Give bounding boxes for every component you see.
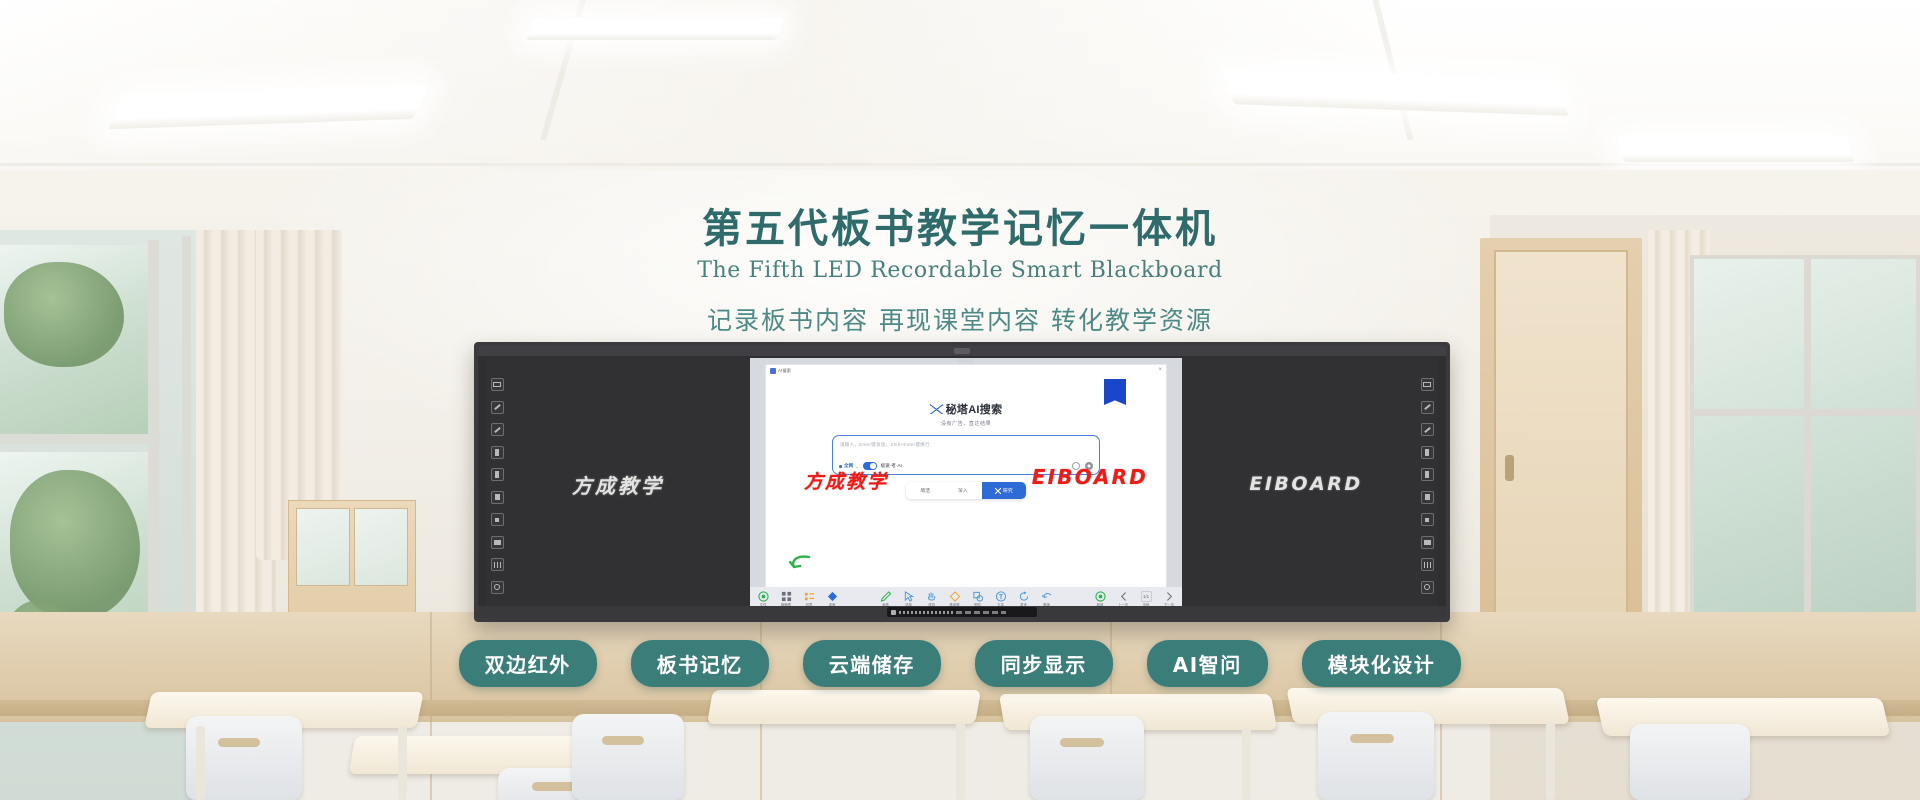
toolbar-left-group: 文件 缩略图 列表 桌面 — [755, 591, 840, 607]
toolbar-item-file[interactable]: 文件 — [755, 591, 771, 607]
left-window-mullion-h — [0, 434, 160, 444]
desktop-icon — [827, 591, 838, 602]
pen-icon[interactable] — [491, 401, 504, 414]
toolbar-item-undo[interactable]: 撤销 — [1039, 591, 1055, 607]
hand-icon — [926, 591, 937, 602]
desk-leg-2 — [398, 726, 407, 800]
smart-blackboard[interactable]: 方成教学 EIBOARD — [474, 342, 1450, 622]
toolbar-item-select[interactable]: 选择 — [901, 591, 917, 607]
prev-icon — [1118, 591, 1129, 602]
board-bottom-bezel — [478, 606, 1446, 618]
list-icon — [804, 591, 815, 602]
search-placeholder: 请输入，Enter键发送，Shift+Enter键换行 — [840, 442, 930, 448]
board-camera-icon — [954, 348, 970, 354]
board-right-chalk-text: EIBOARD — [1249, 473, 1362, 495]
ceiling-light-right-2 — [1616, 136, 1854, 162]
headline: 第五代板书教学记忆一体机 The Fifth LED Recordable Sm… — [0, 196, 1920, 337]
add-icon — [1095, 591, 1106, 602]
toolbar-center-group: 画笔 选择 漫游 橡皮擦 图形 — [878, 591, 1055, 607]
page-count-value: 1/1 — [1141, 591, 1152, 602]
page-subtitle: 记录板书内容 再现课堂内容 转化教学资源 — [0, 301, 1920, 337]
feature-badge-row: 双边红外 板书记忆 云端储存 同步显示 AI智问 模块化设计 — [0, 640, 1920, 687]
page-icon[interactable] — [491, 446, 504, 459]
desk-leg-1 — [196, 726, 205, 800]
board-panel-right[interactable]: EIBOARD — [1174, 358, 1438, 610]
pen-icon — [880, 591, 891, 602]
chair-5 — [1318, 712, 1434, 800]
brand-mark-icon — [891, 610, 896, 615]
battery-icon[interactable] — [1421, 491, 1434, 504]
left-cabinet-glass-r — [354, 508, 408, 586]
usb-icon[interactable] — [491, 468, 504, 481]
display-icon[interactable] — [491, 378, 504, 391]
window-title: AI搜索 — [770, 368, 791, 374]
pen-alt-icon[interactable] — [1421, 423, 1434, 436]
chair-1-handle — [218, 738, 260, 747]
chair-3 — [572, 714, 684, 800]
board-panel-left[interactable]: 方成教学 — [486, 358, 750, 610]
toolbar-item-thumbnail[interactable]: 缩略图 — [778, 591, 794, 607]
mode-research-label: 研究 — [1003, 487, 1013, 494]
file-icon — [758, 591, 769, 602]
handwriting-annotation-en: EIBOARD — [1032, 465, 1148, 489]
app-brand: 秘塔AI搜索 — [930, 401, 1003, 417]
mode-deep-button[interactable]: 深入 — [944, 482, 982, 499]
handwriting-annotation-cn: 方成教学 — [804, 467, 888, 494]
door-handle — [1505, 455, 1514, 481]
toolbar-item-prev-page[interactable]: 上一页 — [1115, 591, 1131, 607]
sparkle-icon — [995, 488, 1001, 494]
desk-leg-3 — [956, 722, 965, 800]
brand-model-placeholder — [956, 611, 1006, 614]
chair-4 — [1030, 716, 1144, 800]
window-title-text: AI搜索 — [778, 368, 791, 374]
feature-badge[interactable]: 云端储存 — [803, 640, 941, 687]
toolbar-item-text[interactable]: 文本 — [993, 591, 1009, 607]
cursor-icon — [903, 591, 914, 602]
pen-alt-icon[interactable] — [491, 423, 504, 436]
pen-icon[interactable] — [1421, 401, 1434, 414]
feature-badge[interactable]: AI智问 — [1147, 640, 1268, 687]
undo-arrow-icon — [788, 553, 814, 575]
shape-icon — [972, 591, 983, 602]
toolbar-item-add-page[interactable]: 新增 — [1092, 591, 1108, 607]
redo-icon — [1018, 591, 1029, 602]
screen-notch — [957, 358, 975, 365]
toolbar-item-shape[interactable]: 图形 — [970, 591, 986, 607]
close-icon[interactable]: × — [1158, 367, 1162, 373]
toolbar-item-list[interactable]: 列表 — [801, 591, 817, 607]
hdmi-icon[interactable] — [1421, 536, 1434, 549]
ceiling-seam — [0, 163, 1920, 166]
feature-badge[interactable]: 双边红外 — [459, 640, 597, 687]
toolbar-item-redo[interactable]: 重来 — [1016, 591, 1032, 607]
feature-badge[interactable]: 板书记忆 — [631, 640, 769, 687]
chair-4-handle — [1060, 738, 1104, 747]
mode-research-button[interactable]: 研究 — [982, 482, 1026, 499]
chair-3-handle — [602, 736, 644, 745]
toolbar-item-pen[interactable]: 画笔 — [878, 591, 894, 607]
power-icon[interactable] — [1421, 581, 1434, 594]
chair-6 — [1630, 724, 1750, 800]
grid-icon[interactable] — [491, 558, 504, 571]
toolbar-item-roam[interactable]: 漫游 — [924, 591, 940, 607]
toolbar-item-next-page[interactable]: 下一页 — [1161, 591, 1177, 607]
eraser-icon — [949, 591, 960, 602]
chair-5-handle — [1350, 734, 1394, 743]
toolbar-item-desktop[interactable]: 桌面 — [824, 591, 840, 607]
display-icon[interactable] — [1421, 378, 1434, 391]
brand-text-placeholder — [899, 611, 953, 614]
board-control-rail-left[interactable] — [488, 374, 506, 598]
undo-icon — [1041, 591, 1052, 602]
toolbar-item-eraser[interactable]: 橡皮擦 — [947, 591, 963, 607]
square-icon[interactable] — [491, 513, 504, 526]
thumbnail-icon — [781, 591, 792, 602]
board-brand-plate — [887, 607, 1037, 617]
center-display-bezel: AI搜索 × 秘塔AI搜索 没有广告，直达结果 请输入，Enter键发送，Shi… — [750, 358, 1182, 610]
page-indicator: 1/1 页码 — [1138, 591, 1154, 607]
page-title-en: The Fifth LED Recordable Smart Blackboar… — [0, 258, 1920, 283]
feature-badge[interactable]: 模块化设计 — [1302, 640, 1462, 687]
search-mode-buttons: 简洁 深入 研究 — [906, 482, 1025, 499]
right-window-mullion-h — [1694, 409, 1916, 416]
battery-icon[interactable] — [491, 491, 504, 504]
board-control-rail-right[interactable] — [1418, 374, 1436, 598]
page-title-cn: 第五代板书教学记忆一体机 — [0, 196, 1920, 254]
square-icon[interactable] — [1421, 513, 1434, 526]
hdmi-icon[interactable] — [491, 536, 504, 549]
board-top-bezel — [478, 346, 1446, 356]
metaso-logo-icon — [930, 404, 943, 414]
ceiling-light-mid — [526, 18, 784, 40]
usb-icon[interactable] — [1421, 468, 1434, 481]
toolbar-right-group: 新增 上一页 1/1 页码 下一页 — [1092, 591, 1177, 607]
grid-icon[interactable] — [1421, 558, 1434, 571]
app-logo-icon — [770, 368, 776, 374]
desk-leg-5 — [1546, 722, 1555, 800]
app-name: 秘塔AI搜索 — [946, 401, 1003, 417]
feature-badge[interactable]: 同步显示 — [975, 640, 1113, 687]
window-titlebar: AI搜索 × — [766, 365, 1166, 376]
text-icon — [995, 591, 1006, 602]
center-display-screen[interactable]: AI搜索 × 秘塔AI搜索 没有广告，直达结果 请输入，Enter键发送，Shi… — [766, 365, 1166, 587]
left-cabinet-glass-l — [296, 508, 350, 586]
desk-leg-4 — [1242, 728, 1251, 800]
mode-simple-button[interactable]: 简洁 — [906, 482, 944, 499]
next-icon — [1164, 591, 1175, 602]
power-icon[interactable] — [491, 581, 504, 594]
desk-3 — [707, 690, 981, 724]
page-icon[interactable] — [1421, 446, 1434, 459]
app-tagline: 没有广告，直达结果 — [941, 420, 991, 427]
board-left-chalk-text: 方成教学 — [572, 470, 664, 499]
